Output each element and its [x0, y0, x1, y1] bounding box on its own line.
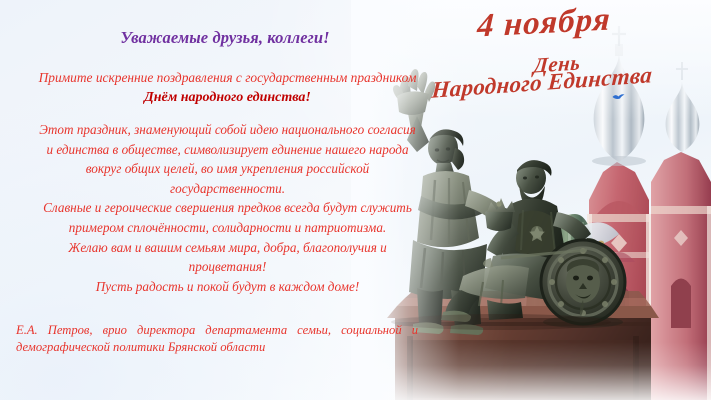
body-line: и единства в обществе, символизирует еди…: [0, 140, 455, 160]
congratulations-block: Примите искренние поздравления с государ…: [0, 68, 455, 107]
body-line: государственности.: [0, 179, 455, 199]
body-line: вокруг общих целей, во имя укрепления ро…: [0, 159, 455, 179]
body-line: процветания!: [0, 257, 455, 277]
message-body: Этот праздник, знаменующий собой идею на…: [0, 120, 455, 296]
congratulations-line-1: Примите искренние поздравления с государ…: [39, 70, 417, 85]
body-line: Этот праздник, знаменующий собой идею на…: [0, 120, 455, 140]
body-line: Желаю вам и вашим семьям мира, добра, бл…: [0, 238, 455, 258]
body-line: примером сплочённости, солидарности и па…: [0, 218, 455, 238]
greeting-card: 4 ноября День Народного Единства Уважаем…: [0, 0, 711, 400]
body-line: Славные и героические свершения предков …: [0, 198, 455, 218]
body-line: Пусть радость и покой будут в каждом дом…: [0, 277, 455, 297]
signature-block: Е.А. Петров, врио директора департамента…: [16, 322, 418, 356]
message-column: Уважаемые друзья, коллеги! Примите искре…: [0, 0, 470, 400]
congratulations-line-2: Днём народного единства!: [0, 88, 455, 107]
greeting-heading: Уважаемые друзья, коллеги!: [0, 28, 450, 48]
